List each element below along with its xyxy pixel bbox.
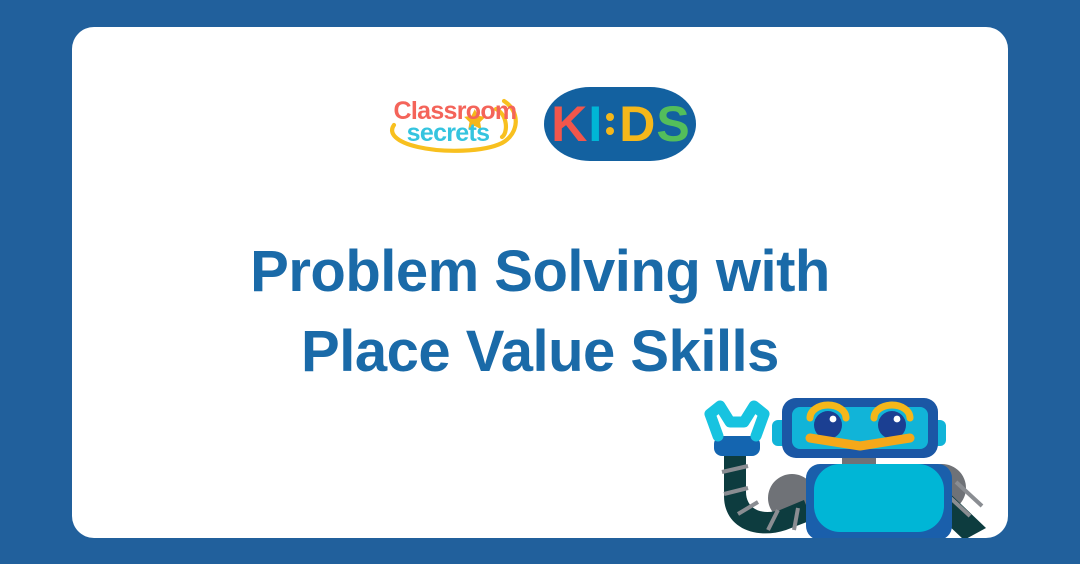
page-title-line-1: Problem Solving with	[250, 239, 830, 304]
classroom-secrets-logo: Classroom secrets	[384, 93, 526, 155]
kids-colon-dots-icon	[603, 113, 617, 135]
robot-head	[772, 398, 946, 458]
robot-eye-highlight-right	[894, 416, 901, 423]
slide-card: Classroom secrets K I D S Problem Solvin…	[72, 27, 1008, 538]
kids-letter-i: I	[588, 99, 601, 149]
kids-letter-s: S	[656, 99, 688, 149]
robot-body	[806, 464, 952, 538]
kids-dot-top	[606, 113, 614, 121]
kids-letter-k: K	[551, 99, 586, 149]
robot-mascot-icon	[694, 388, 1008, 538]
kids-letter-d: D	[619, 99, 654, 149]
logo-word-secrets: secrets	[386, 121, 510, 146]
robot-claw-icon	[710, 406, 764, 436]
page-title-line-2: Place Value Skills	[301, 319, 779, 384]
kids-dot-bottom	[606, 127, 614, 135]
brand-logo-row: Classroom secrets K I D S	[72, 87, 1008, 161]
kids-badge: K I D S	[544, 87, 696, 161]
robot-eye-highlight-left	[830, 416, 837, 423]
page-title: Problem Solving with Place Value Skills	[72, 232, 1008, 392]
